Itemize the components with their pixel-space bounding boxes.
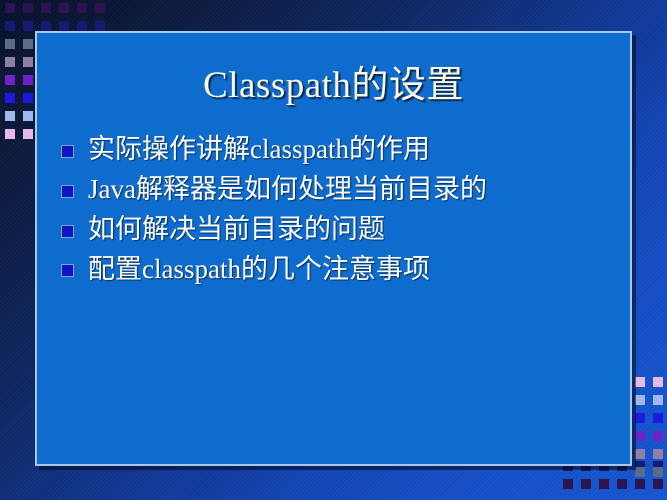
- decorative-square: [635, 377, 645, 387]
- decorative-square: [23, 111, 33, 121]
- decorative-square: [95, 21, 105, 31]
- decorative-square: [23, 57, 33, 67]
- decorative-square: [635, 449, 645, 459]
- decorative-square: [653, 377, 663, 387]
- decorative-square: [5, 3, 15, 13]
- decorative-square: [23, 93, 33, 103]
- decorative-square: [59, 3, 69, 13]
- decorative-square: [653, 395, 663, 405]
- decorative-square: [23, 129, 33, 139]
- decorative-square: [635, 467, 645, 477]
- square-bullet-icon: [61, 145, 74, 158]
- decorative-square: [653, 413, 663, 423]
- decorative-square: [5, 111, 15, 121]
- decorative-square: [59, 21, 69, 31]
- slide-content-panel: Classpath的设置 实际操作讲解classpath的作用Java解释器是如…: [35, 31, 632, 466]
- decorative-square: [5, 129, 15, 139]
- list-item: 实际操作讲解classpath的作用: [61, 133, 630, 166]
- decorative-square: [5, 21, 15, 31]
- decorative-square: [599, 479, 609, 489]
- decorative-square: [77, 3, 87, 13]
- decorative-square: [41, 3, 51, 13]
- square-bullet-icon: [61, 185, 74, 198]
- decorative-square: [653, 449, 663, 459]
- decorative-square: [581, 479, 591, 489]
- decorative-square: [635, 431, 645, 441]
- list-item: Java解释器是如何处理当前目录的: [61, 173, 630, 206]
- decorative-square: [77, 21, 87, 31]
- bullet-text: 如何解决当前目录的问题: [88, 213, 385, 246]
- decorative-square: [635, 395, 645, 405]
- decorative-square: [653, 431, 663, 441]
- decorative-square: [5, 75, 15, 85]
- square-bullet-icon: [61, 225, 74, 238]
- bullet-text: 配置classpath的几个注意事项: [88, 253, 430, 286]
- decorative-square: [23, 3, 33, 13]
- list-item: 如何解决当前目录的问题: [61, 213, 630, 246]
- slide-title: Classpath的设置: [37, 33, 630, 107]
- decorative-square: [23, 21, 33, 31]
- decorative-square: [23, 75, 33, 85]
- presentation-slide-canvas: Classpath的设置 实际操作讲解classpath的作用Java解释器是如…: [0, 0, 667, 500]
- decorative-square: [41, 21, 51, 31]
- decorative-square: [5, 57, 15, 67]
- slide-bullet-list: 实际操作讲解classpath的作用Java解释器是如何处理当前目录的如何解决当…: [37, 107, 630, 286]
- decorative-square: [23, 39, 33, 49]
- decorative-square: [563, 479, 573, 489]
- decorative-square: [653, 467, 663, 477]
- bullet-text: Java解释器是如何处理当前目录的: [88, 173, 487, 206]
- decorative-square-grid-right: [635, 377, 667, 485]
- decorative-square: [5, 93, 15, 103]
- square-bullet-icon: [61, 264, 74, 277]
- decorative-square: [5, 39, 15, 49]
- decorative-square: [95, 3, 105, 13]
- list-item: 配置classpath的几个注意事项: [61, 253, 630, 286]
- bullet-text: 实际操作讲解classpath的作用: [88, 133, 430, 166]
- decorative-square: [635, 413, 645, 423]
- decorative-square: [617, 479, 627, 489]
